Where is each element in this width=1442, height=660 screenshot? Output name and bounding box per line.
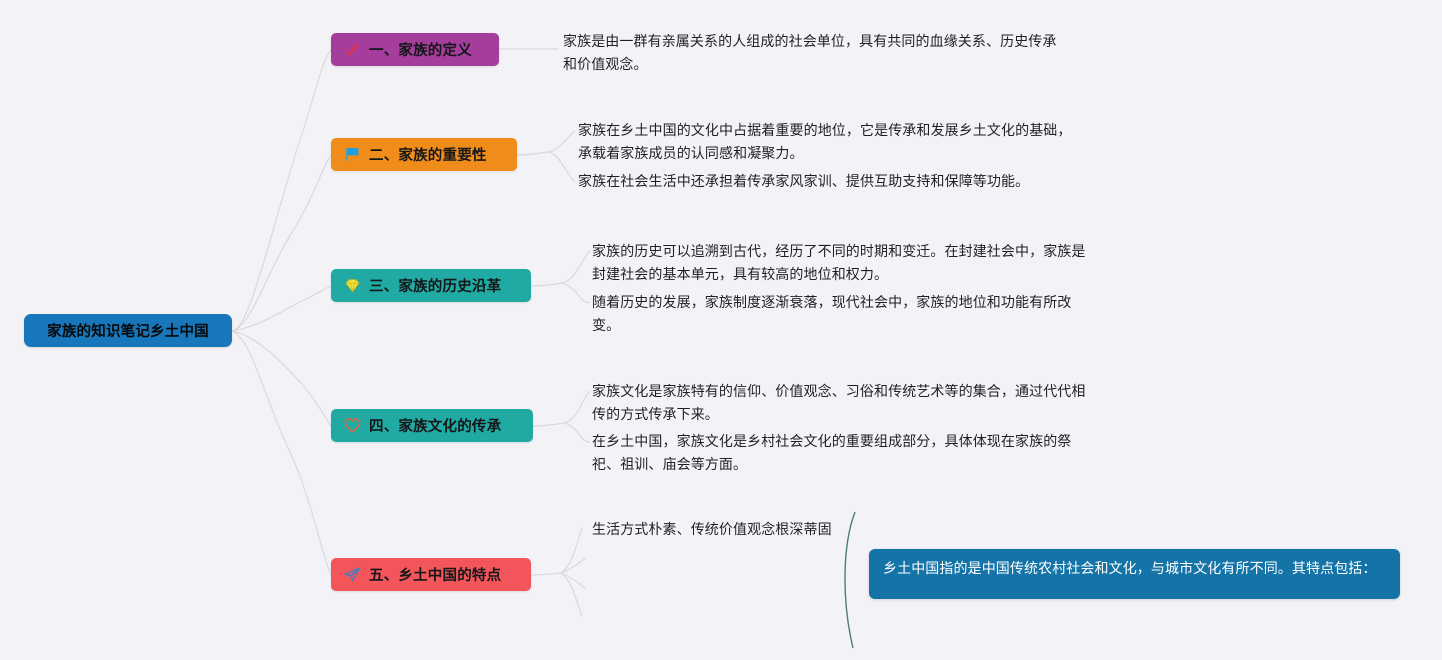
connector-branch-5-stub-2 [561,558,586,573]
connector-root-to-branch-1 [232,50,331,331]
callout-box-text: 乡土中国指的是中国传统农村社会和文化，与城市文化有所不同。其特点包括： [883,557,1386,580]
connector-branch-2-to-detail-1 [548,131,575,152]
branch-node-4[interactable]: 四、家族文化的传承 [331,409,533,442]
detail-text-2-1: 家族在乡土中国的文化中占据着重要的地位，它是传承和发展乡土文化的基础，承载着家族… [578,119,1078,165]
connector-branch-5-stub-4 [561,573,582,617]
branch-node-1[interactable]: 一、家族的定义 [331,33,499,66]
detail-text-4-2: 在乡土中国，家族文化是乡村社会文化的重要组成部分，具体体现在家族的祭祀、祖训、庙… [592,430,1077,476]
connector-branch-3-to-detail-2 [562,283,590,303]
sparkles-icon [343,40,362,59]
connector-branch-5-to-detail-1 [561,528,582,573]
connector-root-to-branch-2 [232,155,331,331]
detail-text-1-1: 家族是由一群有亲属关系的人组成的社会单位，具有共同的血缘关系、历史传承和价值观念… [563,30,1063,76]
detail-text-3-1: 家族的历史可以追溯到古代，经历了不同的时期和变迁。在封建社会中，家族是封建社会的… [592,240,1098,286]
branch-node-3-label: 三、家族的历史沿革 [369,275,501,296]
detail-text-4-1: 家族文化是家族特有的信仰、价值观念、习俗和传统艺术等的集合，通过代代相传的方式传… [592,380,1092,426]
connector-branch-4-stem [533,423,564,426]
root-node[interactable]: 家族的知识笔记乡土中国 [24,314,232,347]
detail-text-2-2: 家族在社会生活中还承担着传承家风家训、提供互助支持和保障等功能。 [578,170,1078,193]
gem-icon [343,276,362,295]
detail-text-5-1: 生活方式朴素、传统价值观念根深蒂固 [592,518,992,541]
branch-node-3[interactable]: 三、家族的历史沿革 [331,269,531,302]
branch-node-5-label: 五、乡土中国的特点 [369,564,501,585]
connector-root-to-branch-4 [232,331,331,426]
connector-branch-4-to-detail-2 [564,423,590,442]
branch-node-4-label: 四、家族文化的传承 [369,415,501,436]
branch-node-5[interactable]: 五、乡土中国的特点 [331,558,531,591]
branch-node-1-label: 一、家族的定义 [369,39,472,60]
connector-root-to-branch-5 [232,331,331,575]
connector-branch-4-to-detail-1 [564,391,590,423]
root-node-label: 家族的知识笔记乡土中国 [47,320,209,341]
heart-icon [343,416,362,435]
connector-branch-2-to-detail-2 [548,152,575,182]
connector-branch-5-stem [531,573,561,575]
detail-text-3-2: 随着历史的发展，家族制度逐渐衰落，现代社会中，家族的地位和功能有所改变。 [592,291,1082,337]
callout-box[interactable]: 乡土中国指的是中国传统农村社会和文化，与城市文化有所不同。其特点包括： [869,549,1400,599]
connector-branch-2-stem [517,152,548,155]
branch-node-2-label: 二、家族的重要性 [369,144,487,165]
paper-plane-icon [343,565,362,584]
branch-node-2[interactable]: 二、家族的重要性 [331,138,517,171]
connector-branch-3-to-detail-1 [562,251,590,283]
connector-root-to-branch-3 [232,286,331,331]
mindmap-canvas: 家族的知识笔记乡土中国 一、家族的定义 二、家族的重要性 [0,0,1442,660]
connector-branch-5-stub-3 [561,573,586,589]
flag-icon [343,145,362,164]
connector-branch-3-stem [531,283,562,286]
